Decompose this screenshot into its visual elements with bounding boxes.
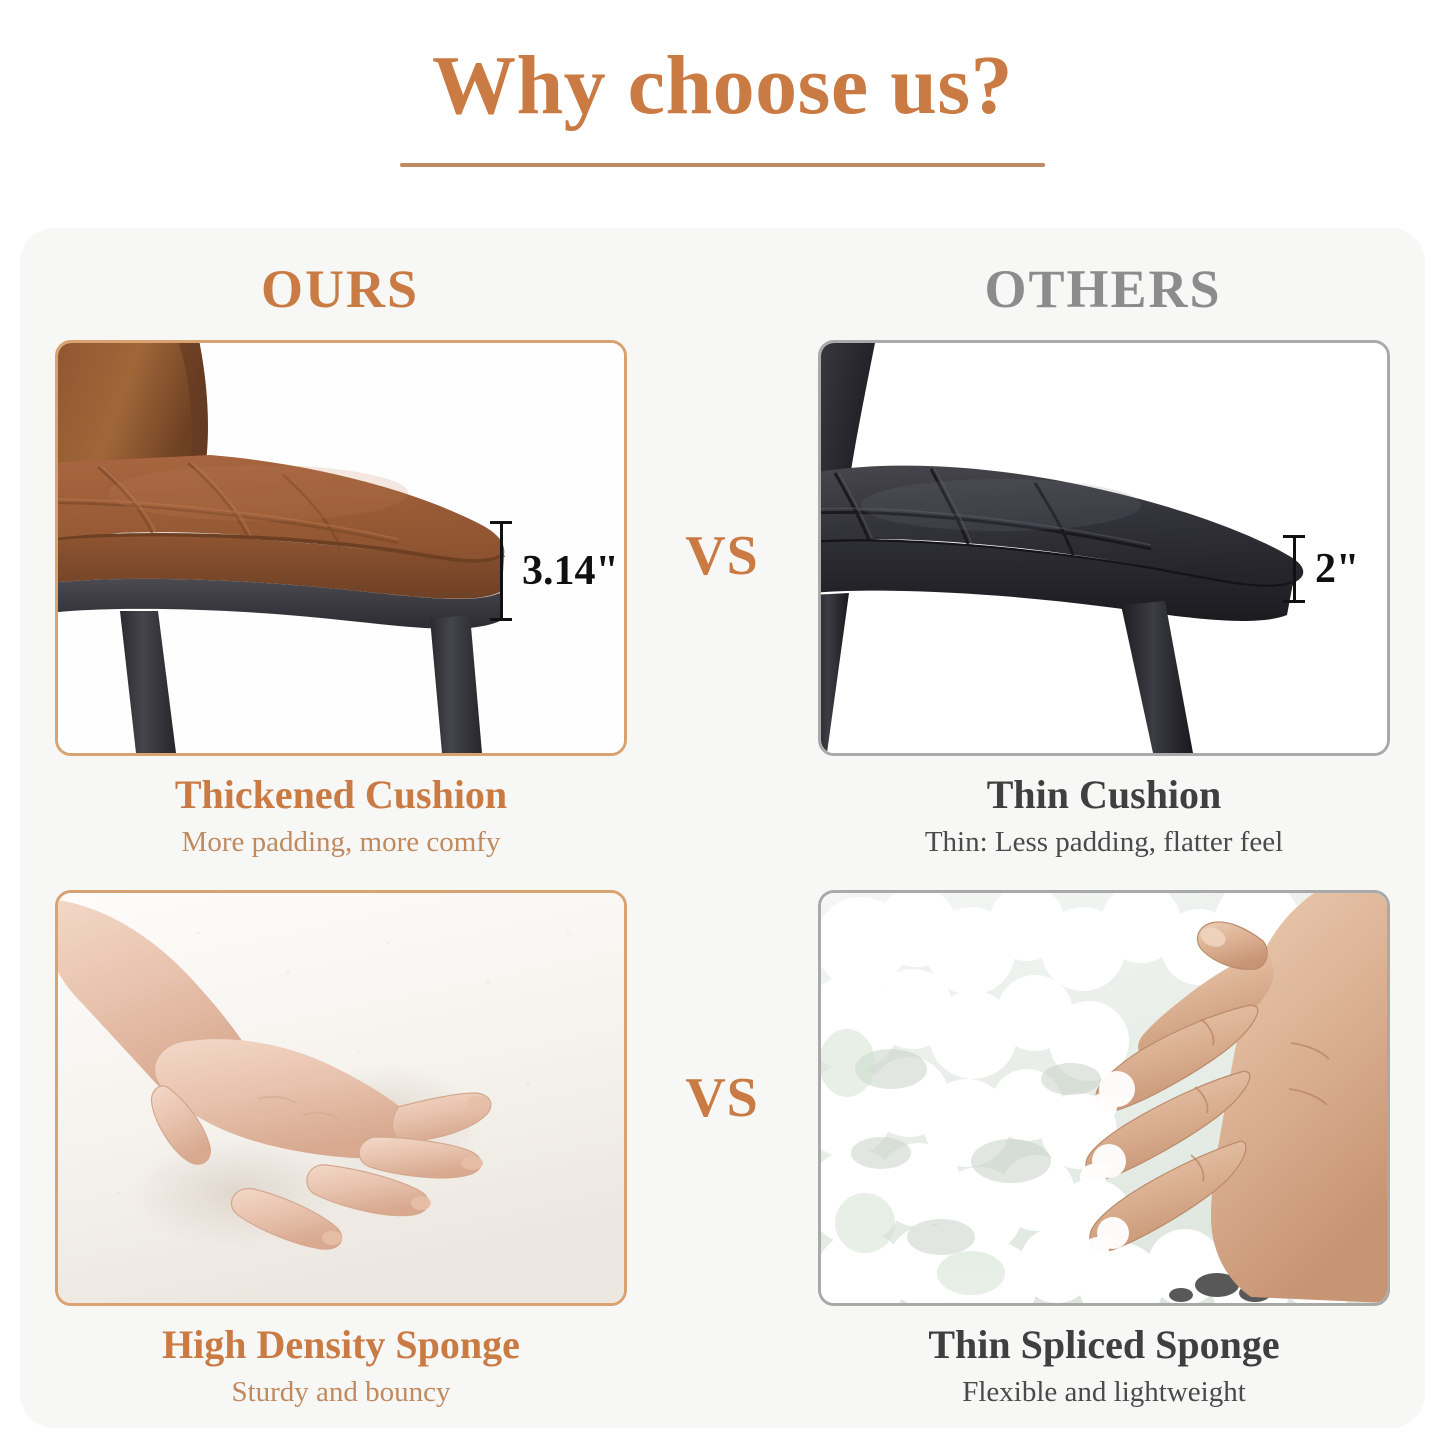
caption-others-sponge-title: Thin Spliced Sponge: [818, 1322, 1390, 1368]
caption-others-sponge: Thin Spliced Sponge Flexible and lightwe…: [818, 1322, 1390, 1412]
dimension-bar-others: [1283, 535, 1305, 603]
caption-ours-cushion: Thickened Cushion More padding, more com…: [55, 772, 627, 862]
infographic-page: Why choose us? OURS OTHERS: [0, 0, 1445, 1445]
dimension-bar-ours: [490, 521, 512, 621]
caption-ours-cushion-title: Thickened Cushion: [55, 772, 627, 818]
caption-others-sponge-sub: Flexible and lightweight: [818, 1374, 1390, 1412]
page-title: Why choose us?: [0, 44, 1445, 128]
dimension-label-others: 2": [1315, 548, 1359, 590]
vs-label-row2: VS: [627, 1070, 817, 1126]
caption-others-cushion: Thin Cushion Thin: Less padding, flatter…: [818, 772, 1390, 862]
hand-on-foam-illustration: [58, 893, 624, 1303]
column-header-others: OTHERS: [818, 262, 1388, 316]
caption-ours-sponge-sub: Sturdy and bouncy: [55, 1374, 627, 1412]
panel-others-sponge: [818, 890, 1390, 1306]
dimension-label-ours: 3.14": [522, 550, 619, 592]
title-underline-divider: [400, 163, 1045, 167]
panel-ours-cushion: 3.14": [55, 340, 627, 756]
panel-others-sponge-image: [821, 893, 1387, 1303]
panel-ours-sponge: [55, 890, 627, 1306]
dimension-others-cushion: 2": [1283, 535, 1359, 603]
column-header-ours: OURS: [55, 262, 625, 316]
caption-others-cushion-title: Thin Cushion: [818, 772, 1390, 818]
hand-in-fiberfill-illustration: [821, 893, 1387, 1303]
caption-others-cushion-sub: Thin: Less padding, flatter feel: [818, 824, 1390, 862]
vs-label-row1: VS: [627, 528, 817, 584]
panel-others-cushion: 2": [818, 340, 1390, 756]
panel-ours-sponge-image: [58, 893, 624, 1303]
dimension-ours-cushion: 3.14": [490, 521, 619, 621]
caption-ours-cushion-sub: More padding, more comfy: [55, 824, 627, 862]
caption-ours-sponge-title: High Density Sponge: [55, 1322, 627, 1368]
caption-ours-sponge: High Density Sponge Sturdy and bouncy: [55, 1322, 627, 1412]
